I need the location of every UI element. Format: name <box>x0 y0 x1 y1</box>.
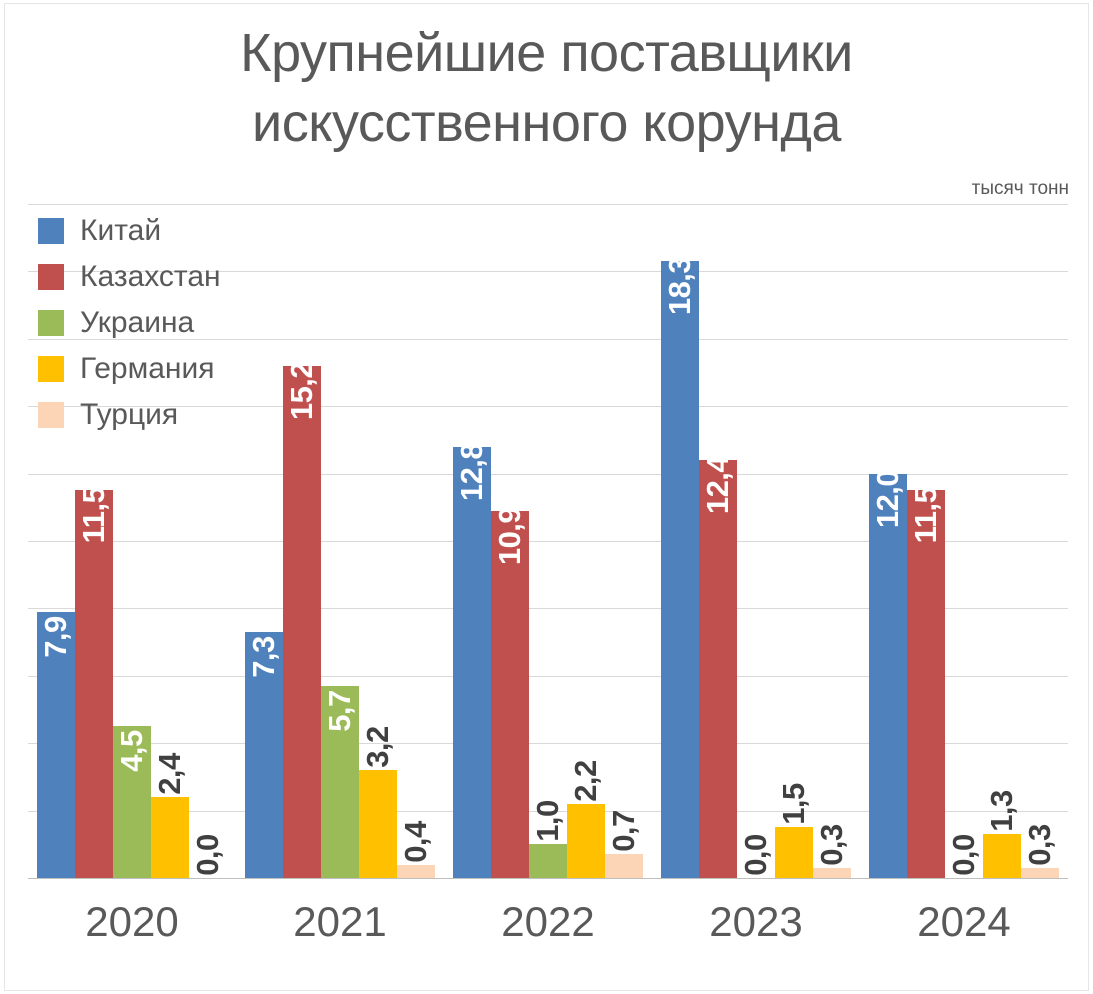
category-label-2021: 2021 <box>236 898 444 946</box>
bar-slot: 2,2 <box>567 204 605 878</box>
bar-slot: 0,3 <box>1021 204 1059 878</box>
bar-Турция-2024[interactable]: 0,3 <box>1021 868 1059 878</box>
bar-value-label: 5,7 <box>321 690 359 732</box>
chart-title: Крупнейшие поставщики искусственного кор… <box>0 18 1093 158</box>
bar-Казахстан-2023[interactable]: 12,4 <box>699 460 737 878</box>
legend-item-label: Германия <box>80 352 215 386</box>
bar-value-label: 0,4 <box>397 821 435 863</box>
legend-item-0[interactable]: Китай <box>38 208 221 254</box>
chart-title-line-1: Крупнейшие поставщики <box>0 18 1093 88</box>
bar-value-label: 7,9 <box>37 616 75 658</box>
bar-Украина-2021[interactable]: 5,7 <box>321 686 359 878</box>
bar-value-label: 1,0 <box>529 801 567 843</box>
bar-Казахстан-2022[interactable]: 10,9 <box>491 511 529 878</box>
bar-Украина-2020[interactable]: 4,5 <box>113 726 151 878</box>
bar-Турция-2023[interactable]: 0,3 <box>813 868 851 878</box>
bar-value-label: 12,8 <box>453 442 491 500</box>
bar-Украина-2022[interactable]: 1,0 <box>529 844 567 878</box>
bar-value-label: 15,2 <box>283 362 321 420</box>
bar-slot: 0,0 <box>737 204 775 878</box>
legend-item-2[interactable]: Украина <box>38 300 221 346</box>
bar-value-label: 1,3 <box>983 790 1021 832</box>
bar-value-label: 3,2 <box>359 726 397 768</box>
bar-value-label: 4,5 <box>113 731 151 773</box>
axis-baseline <box>28 878 1068 879</box>
bar-value-label: 10,9 <box>491 507 529 565</box>
bar-value-label: 2,2 <box>567 760 605 802</box>
legend-item-label: Китай <box>80 214 161 248</box>
bar-Казахстан-2024[interactable]: 11,5 <box>907 490 945 878</box>
category-label-2020: 2020 <box>28 898 236 946</box>
bar-value-label: 0,3 <box>1021 824 1059 866</box>
bar-Германия-2024[interactable]: 1,3 <box>983 834 1021 878</box>
bar-slot: 0,0 <box>945 204 983 878</box>
category-axis: 20202021202220232024 <box>28 898 1068 946</box>
bar-slot: 10,9 <box>491 204 529 878</box>
bar-value-label: 0,0 <box>189 834 227 876</box>
chart-page: Крупнейшие поставщики искусственного кор… <box>0 0 1093 994</box>
bar-slot: 0,4 <box>397 204 435 878</box>
bar-group-2021: 7,315,25,73,20,4 <box>236 204 444 878</box>
bar-value-label: 1,5 <box>775 784 813 826</box>
chart-title-line-2: искусственного корунда <box>0 88 1093 158</box>
bar-Китай-2022[interactable]: 12,8 <box>453 447 491 878</box>
bar-Казахстан-2021[interactable]: 15,2 <box>283 366 321 878</box>
bar-Германия-2023[interactable]: 1,5 <box>775 827 813 878</box>
bar-Германия-2021[interactable]: 3,2 <box>359 770 397 878</box>
chart-legend: КитайКазахстанУкраинаГерманияТурция <box>38 208 221 438</box>
bar-value-label: 11,5 <box>75 487 113 544</box>
bar-group-2023: 18,312,40,01,50,3 <box>652 204 860 878</box>
bar-value-label: 7,3 <box>245 636 283 678</box>
bar-value-label: 0,0 <box>737 834 775 876</box>
bar-slot: 1,3 <box>983 204 1021 878</box>
bar-Казахстан-2020[interactable]: 11,5 <box>75 490 113 878</box>
legend-swatch-icon <box>38 402 64 428</box>
bar-slot: 18,3 <box>661 204 699 878</box>
legend-swatch-icon <box>38 356 64 382</box>
bar-slot: 7,3 <box>245 204 283 878</box>
bar-group-2024: 12,011,50,01,30,3 <box>860 204 1068 878</box>
legend-swatch-icon <box>38 310 64 336</box>
bar-slot: 12,8 <box>453 204 491 878</box>
bar-Китай-2021[interactable]: 7,3 <box>245 632 283 878</box>
legend-item-4[interactable]: Турция <box>38 392 221 438</box>
legend-item-label: Украина <box>80 306 194 340</box>
bar-slot: 1,5 <box>775 204 813 878</box>
bar-slot: 11,5 <box>907 204 945 878</box>
bar-slot: 0,3 <box>813 204 851 878</box>
bar-value-label: 2,4 <box>151 753 189 795</box>
category-label-2023: 2023 <box>652 898 860 946</box>
bar-value-label: 0,7 <box>605 811 643 853</box>
legend-item-label: Казахстан <box>80 260 221 294</box>
bar-value-label: 12,4 <box>699 456 737 514</box>
legend-swatch-icon <box>38 218 64 244</box>
bar-Турция-2022[interactable]: 0,7 <box>605 854 643 878</box>
units-caption: тысяч тонн <box>972 178 1069 200</box>
bar-value-label: 18,3 <box>661 257 699 315</box>
bar-Китай-2024[interactable]: 12,0 <box>869 474 907 878</box>
bar-Германия-2022[interactable]: 2,2 <box>567 804 605 878</box>
bar-slot: 12,4 <box>699 204 737 878</box>
bar-Китай-2020[interactable]: 7,9 <box>37 612 75 878</box>
bar-slot: 12,0 <box>869 204 907 878</box>
legend-swatch-icon <box>38 264 64 290</box>
legend-item-3[interactable]: Германия <box>38 346 221 392</box>
bar-slot: 1,0 <box>529 204 567 878</box>
legend-item-1[interactable]: Казахстан <box>38 254 221 300</box>
bar-slot: 3,2 <box>359 204 397 878</box>
category-label-2022: 2022 <box>444 898 652 946</box>
bar-value-label: 0,0 <box>945 834 983 876</box>
category-label-2024: 2024 <box>860 898 1068 946</box>
bar-group-2022: 12,810,91,02,20,7 <box>444 204 652 878</box>
bar-Китай-2023[interactable]: 18,3 <box>661 261 699 878</box>
bar-slot: 15,2 <box>283 204 321 878</box>
legend-item-label: Турция <box>80 398 178 432</box>
bar-slot: 0,7 <box>605 204 643 878</box>
bar-Германия-2020[interactable]: 2,4 <box>151 797 189 878</box>
bar-value-label: 12,0 <box>869 469 907 527</box>
bar-value-label: 11,5 <box>907 487 945 544</box>
bar-value-label: 0,3 <box>813 824 851 866</box>
bar-slot: 5,7 <box>321 204 359 878</box>
bar-Турция-2021[interactable]: 0,4 <box>397 865 435 878</box>
